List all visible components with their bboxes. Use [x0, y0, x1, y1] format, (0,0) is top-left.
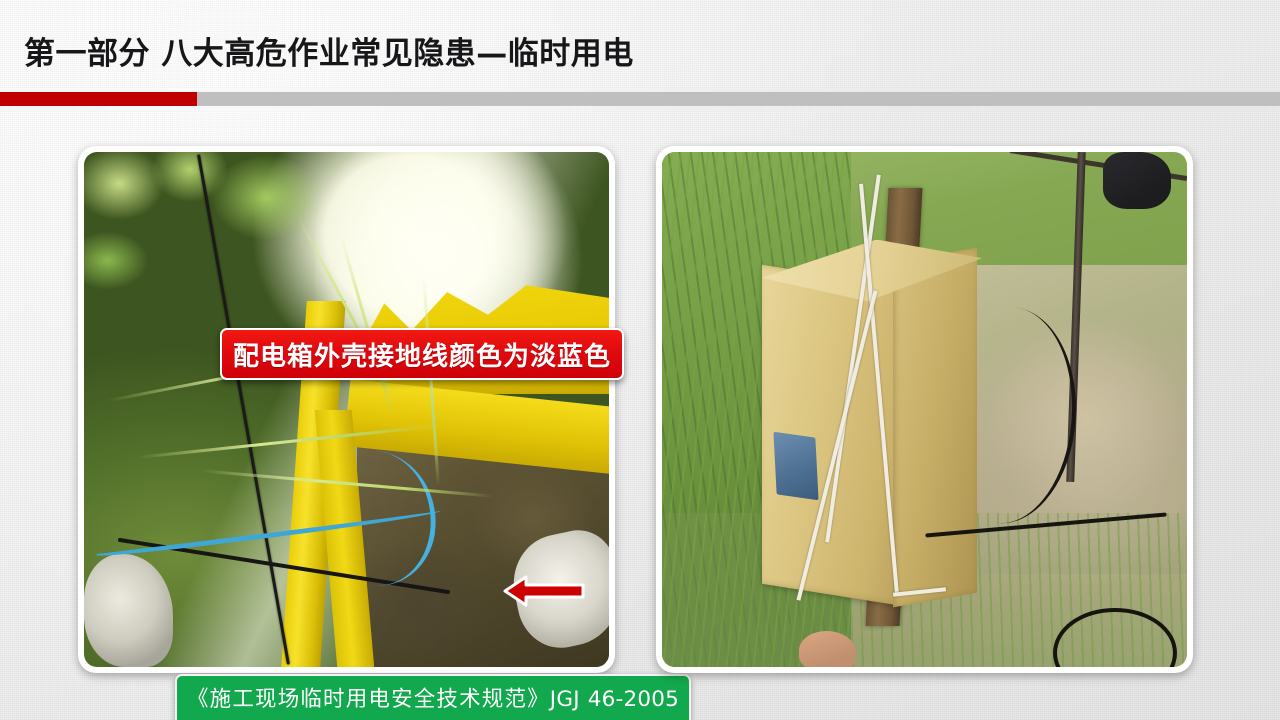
- photo-panel-left[interactable]: 配电箱外壳接地线颜色为淡蓝色 《施工现场临时用电安全技术规范》JGJ 46-20…: [78, 146, 615, 673]
- page-title: 第一部分 八大高危作业常见隐患—临时用电: [24, 28, 634, 73]
- hazard-banner-left: 配电箱外壳接地线颜色为淡蓝色: [220, 328, 624, 380]
- red-left-arrow-icon: [502, 573, 586, 609]
- regulation-box-left: 《施工现场临时用电安全技术规范》JGJ 46-2005 第5.1.11条：PE线…: [175, 674, 691, 720]
- photo-panel-right[interactable]: 开关箱安装不牢固、倾斜、松动 《施工现场临时用电安全技术规范》JGJ 46-20…: [656, 146, 1193, 673]
- title-rule-bar: [0, 92, 1280, 106]
- hazard-banner-left-text: 配电箱外壳接地线颜色为淡蓝色: [233, 336, 611, 373]
- regulation-standard-left: 《施工现场临时用电安全技术规范》JGJ 46-: [187, 687, 623, 712]
- rule-bar-gray-segment: [197, 92, 1280, 106]
- regulation-text-left: 《施工现场临时用电安全技术规范》JGJ 46-2005 第5.1.11条：PE线…: [187, 682, 679, 720]
- slide-canvas: 第一部分 八大高危作业常见隐患—临时用电: [0, 0, 1280, 720]
- worker-shoe: [1103, 152, 1171, 209]
- photo-switch-box-loose: [662, 152, 1187, 667]
- ground-rock-left: [84, 554, 173, 667]
- blue-switch-handle: [773, 432, 818, 500]
- rule-bar-red-segment: [0, 92, 197, 106]
- photo-distribution-box-grounding: [84, 152, 609, 667]
